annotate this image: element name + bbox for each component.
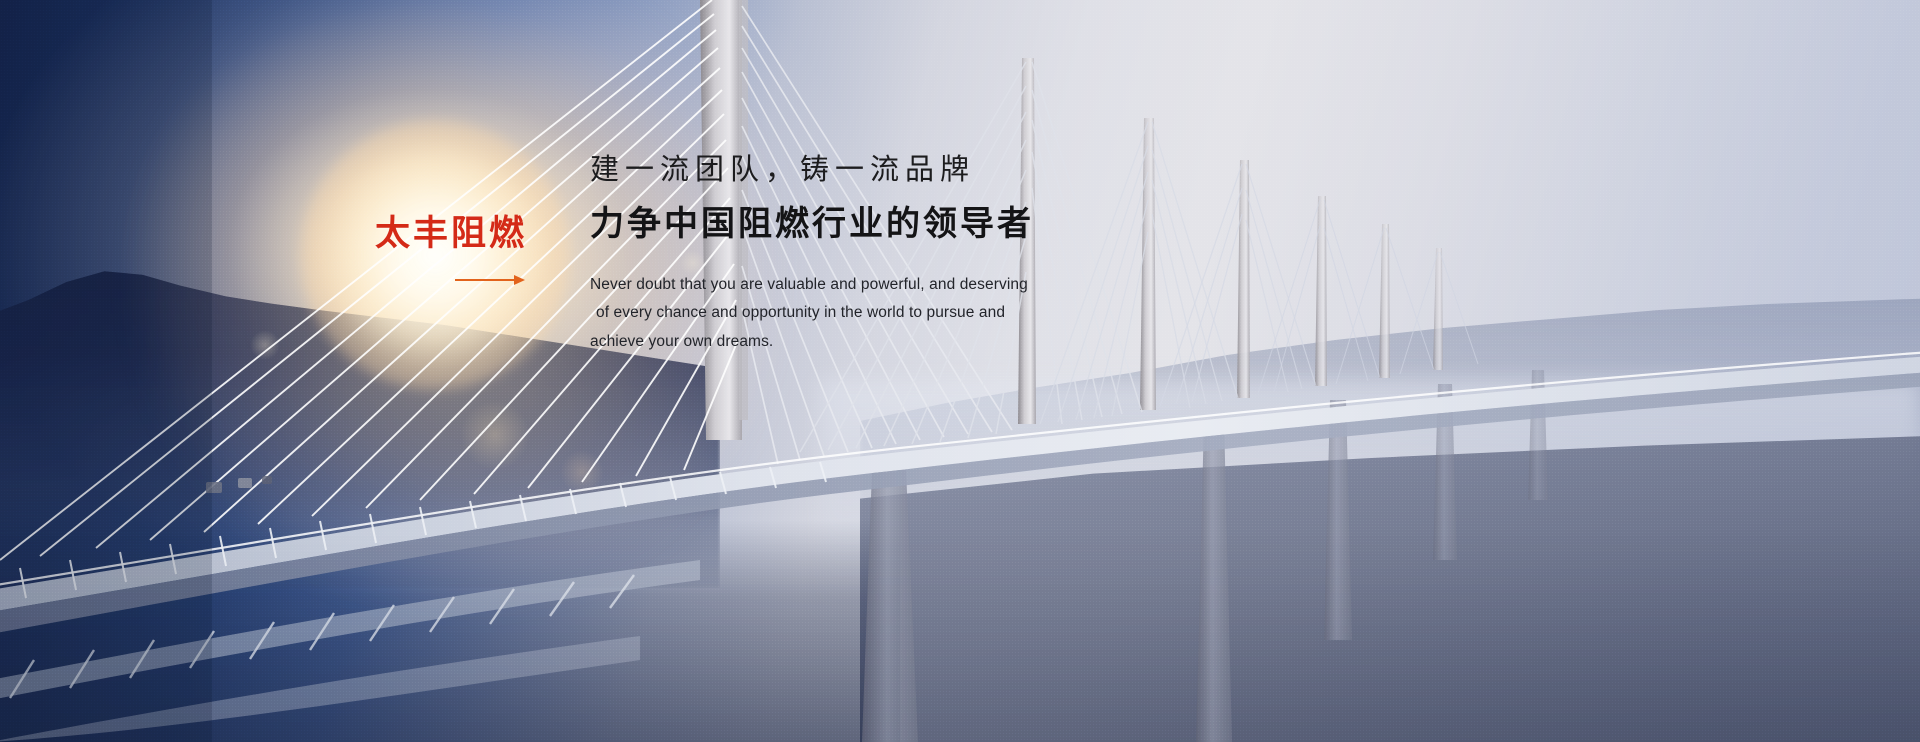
banner-content: 太丰阻燃 建一流团队，铸一流品牌 力争中国阻燃行业的领导者 Never doub… (0, 0, 1920, 742)
arrow-right-icon (455, 275, 525, 285)
brand-logo[interactable]: 太丰阻燃 (375, 216, 545, 285)
hero-banner: 太丰阻燃 建一流团队，铸一流品牌 力争中国阻燃行业的领导者 Never doub… (0, 0, 1920, 742)
hero-headline-secondary: 力争中国阻燃行业的领导者 (590, 201, 1130, 249)
hero-subcopy: Never doubt that you are valuable and po… (590, 271, 1060, 357)
brand-logo-text: 太丰阻燃 (375, 216, 545, 253)
hero-subcopy-line-1: Never doubt that you are valuable and po… (590, 271, 1060, 300)
hero-subcopy-line-3: achieve your own dreams. (590, 328, 1060, 357)
hero-headline-primary: 建一流团队，铸一流品牌 (590, 150, 1130, 189)
hero-text-block: 建一流团队，铸一流品牌 力争中国阻燃行业的领导者 Never doubt tha… (590, 150, 1130, 357)
hero-subcopy-line-2: of every chance and opportunity in the w… (590, 299, 1060, 328)
